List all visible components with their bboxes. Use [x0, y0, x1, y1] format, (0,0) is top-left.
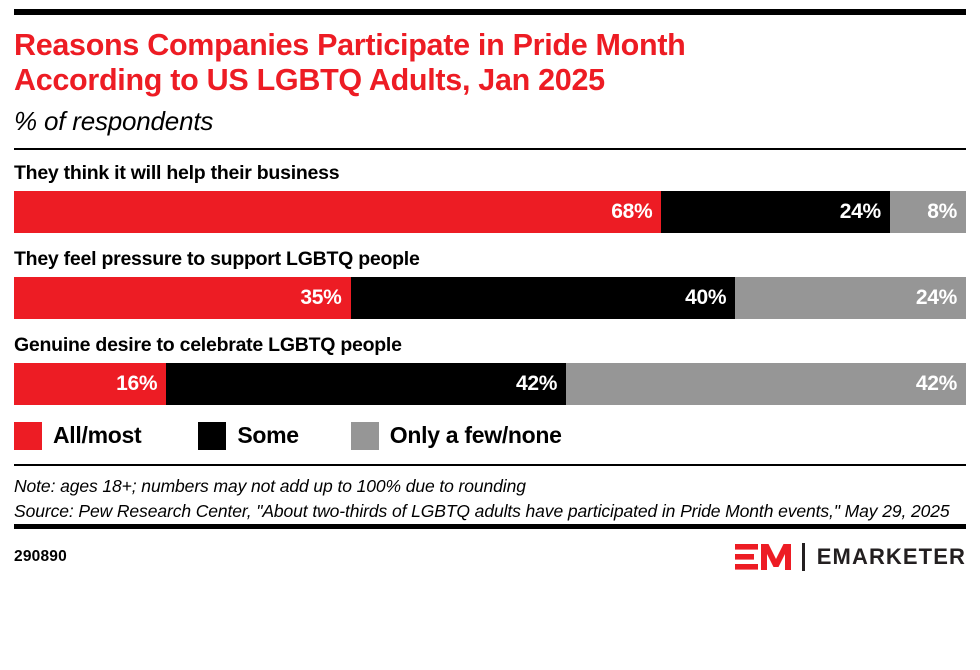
note-text: Note: ages 18+; numbers may not add up t…: [14, 475, 966, 499]
legend-label: All/most: [53, 422, 141, 449]
bar-segment-few: 42%: [566, 363, 966, 405]
bar-segment-some: 40%: [351, 277, 736, 319]
source-text: Source: Pew Research Center, "About two-…: [14, 500, 966, 524]
bar-segment-some: 24%: [661, 191, 889, 233]
chart-notes: Note: ages 18+; numbers may not add up t…: [14, 475, 966, 524]
legend-swatch-all-most: [14, 422, 42, 450]
legend-item[interactable]: All/most: [14, 422, 141, 450]
chart-id: 290890: [14, 548, 67, 566]
chart-footer: 290890 EMARKETER: [14, 540, 966, 574]
legend-item[interactable]: Some: [198, 422, 298, 450]
page-subtitle: % of respondents: [14, 106, 966, 137]
footer-divider: [14, 524, 966, 529]
bar-segment-value: 24%: [840, 200, 881, 224]
stacked-bar: 68%24%8%: [14, 191, 966, 233]
bar-group: Genuine desire to celebrate LGBTQ people…: [14, 334, 966, 405]
bar-group-label: They feel pressure to support LGBTQ peop…: [14, 248, 966, 271]
page-title: Reasons Companies Participate in Pride M…: [14, 28, 966, 99]
header-divider: [14, 148, 966, 150]
notes-divider: [14, 464, 966, 466]
bar-segment-value: 40%: [685, 286, 726, 310]
logo-divider: [802, 543, 805, 571]
bar-segment-allmost: 68%: [14, 191, 661, 233]
bar-segment-few: 24%: [735, 277, 966, 319]
legend-item[interactable]: Only a few/none: [351, 422, 562, 450]
bar-group: They feel pressure to support LGBTQ peop…: [14, 248, 966, 319]
bar-segment-value: 24%: [916, 286, 957, 310]
bar-group: They think it will help their business68…: [14, 162, 966, 233]
bar-segment-allmost: 16%: [14, 363, 166, 405]
top-rule: [14, 9, 966, 15]
legend-swatch-some: [198, 422, 226, 450]
legend-label: Some: [237, 422, 298, 449]
bar-segment-some: 42%: [166, 363, 566, 405]
legend-swatch-only-a-few-none: [351, 422, 379, 450]
bar-groups: They think it will help their business68…: [14, 162, 966, 405]
bar-segment-value: 42%: [516, 372, 557, 396]
bar-segment-value: 16%: [116, 372, 157, 396]
stacked-bar: 16%42%42%: [14, 363, 966, 405]
bar-segment-few: 8%: [890, 191, 966, 233]
bar-segment-value: 42%: [916, 372, 957, 396]
bar-segment-allmost: 35%: [14, 277, 351, 319]
chart-legend: All/mostSomeOnly a few/none: [14, 420, 966, 452]
brand-name: EMARKETER: [817, 544, 966, 570]
bar-segment-value: 68%: [611, 200, 652, 224]
bar-segment-value: 8%: [927, 200, 957, 224]
stacked-bar: 35%40%24%: [14, 277, 966, 319]
emarketer-logo[interactable]: EMARKETER: [735, 542, 966, 572]
bar-segment-value: 35%: [300, 286, 341, 310]
bar-group-label: Genuine desire to celebrate LGBTQ people: [14, 334, 966, 357]
bar-group-label: They think it will help their business: [14, 162, 966, 185]
legend-label: Only a few/none: [390, 422, 562, 449]
em-monogram-icon: [735, 542, 791, 572]
chart-page: Reasons Companies Participate in Pride M…: [0, 9, 980, 670]
